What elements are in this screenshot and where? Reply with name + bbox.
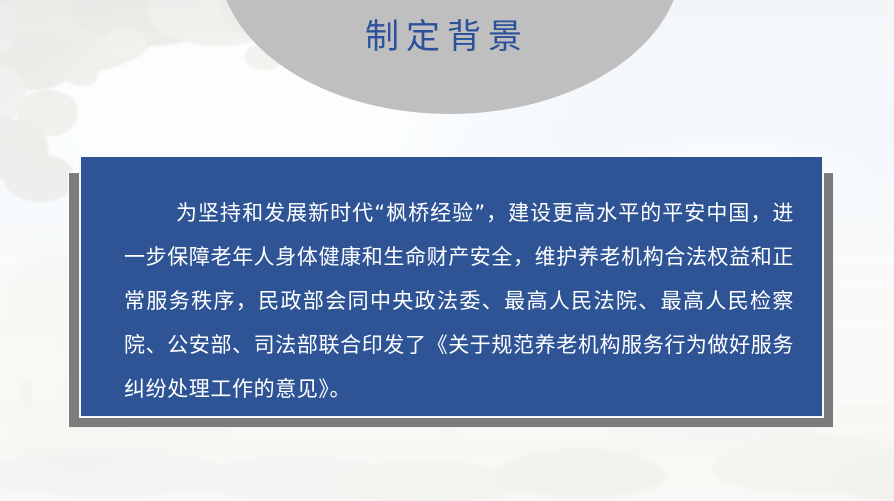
presentation-slide: 制定背景 为坚持和发展新时代“枫桥经验”，建设更高水平的平安中国，进一步保障老年…	[0, 0, 894, 501]
page-title: 制定背景	[0, 9, 894, 58]
content-body-text: 为坚持和发展新时代“枫桥经验”，建设更高水平的平安中国，进一步保障老年人身体健康…	[124, 191, 794, 411]
content-panel: 为坚持和发展新时代“枫桥经验”，建设更高水平的平安中国，进一步保障老年人身体健康…	[79, 155, 824, 418]
